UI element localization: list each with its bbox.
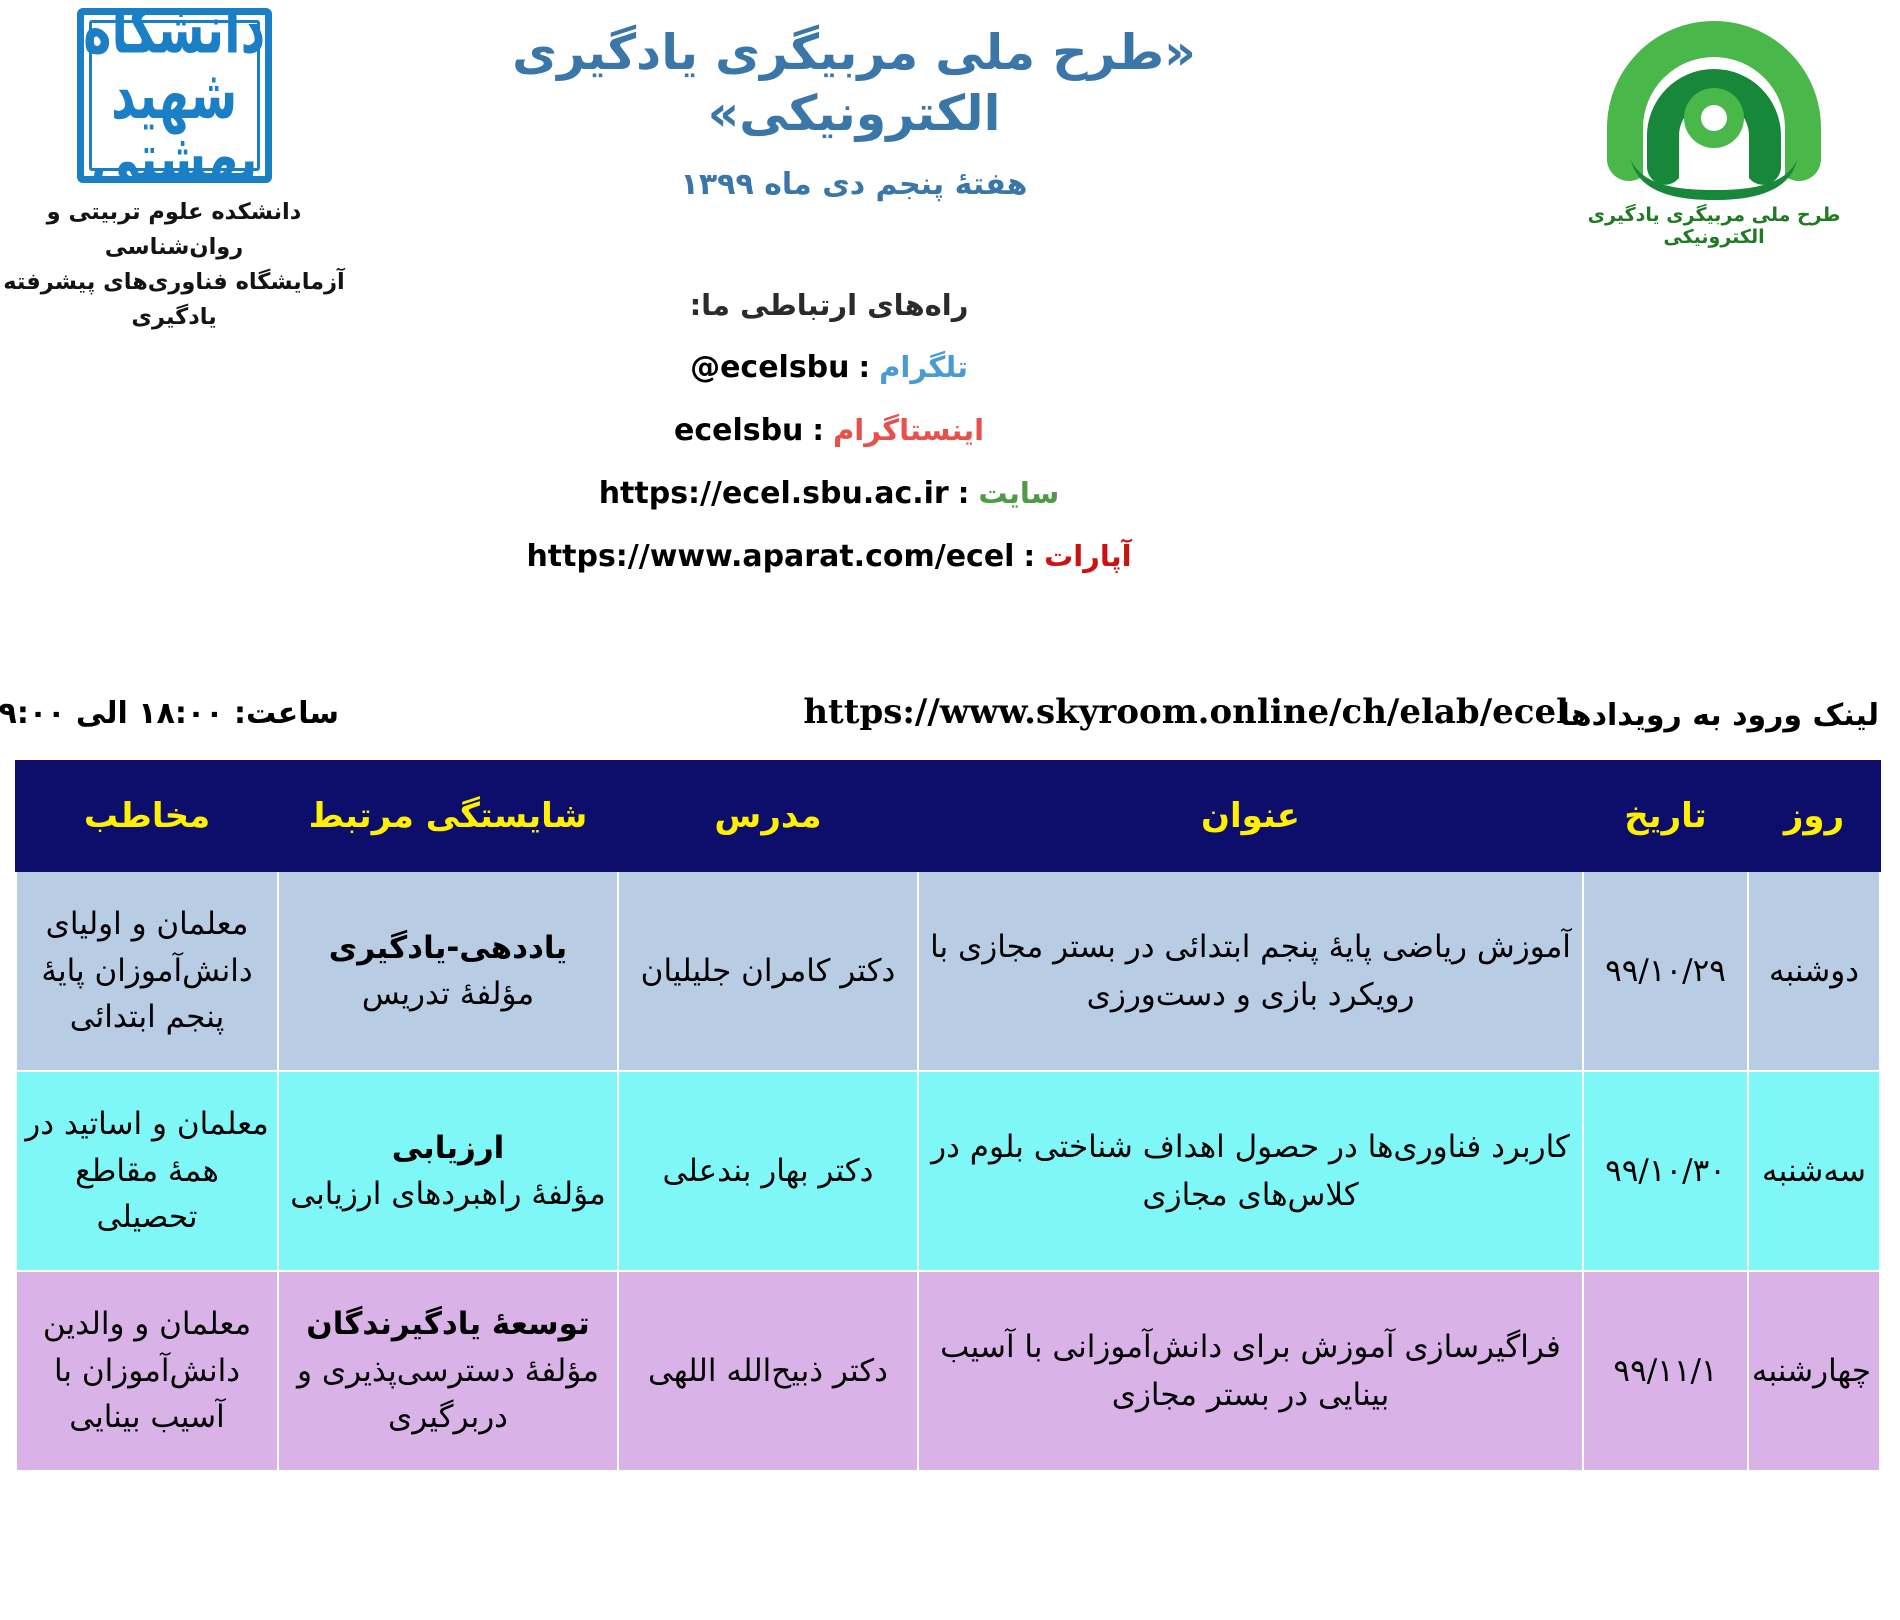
competency-title: یاددهی-یادگیری xyxy=(288,925,610,972)
schedule-table-body: دوشنبه ۹۹/۱۰/۲۹ آموزش ریاضی پایهٔ پنجم ا… xyxy=(17,871,1881,1471)
event-link-bar: لینک ورود به رویدادها https://www.skyroo… xyxy=(0,690,1900,752)
table-row: دوشنبه ۹۹/۱۰/۲۹ آموزش ریاضی پایهٔ پنجم ا… xyxy=(17,871,1881,1071)
program-logo-caption: طرح ملی مربیگری یادگیری الکترونیکی xyxy=(1550,204,1880,248)
event-link-label: لینک ورود به رویدادها xyxy=(1561,698,1880,733)
ecel-logo-icon xyxy=(1590,10,1840,200)
contact-label-telegram: تلگرام xyxy=(880,350,969,384)
contact-label-aparat: آپارات xyxy=(1045,539,1133,573)
faculty-line-1: دانشکده علوم تربیتی و روان‌شناسی xyxy=(0,195,350,265)
university-block: دانشگاهشهیدبهشتی دانشکده علوم تربیتی و ر… xyxy=(0,8,350,335)
contact-row-telegram: تلگرام : @ecelsbu xyxy=(0,350,1900,385)
column-header-competency: شایستگی مرتبط xyxy=(279,761,619,871)
contact-row-site: سایت : https://ecel.sbu.ac.ir xyxy=(0,476,1900,511)
cell-instructor: دکتر ذبیح‌الله اللهی xyxy=(619,1271,919,1471)
schedule-table-head: روز تاریخ عنوان مدرس شایستگی مرتبط مخاطب xyxy=(17,761,1881,871)
event-time-label: ساعت: ۱۸:۰۰ الی ۱۹:۰۰ xyxy=(0,696,340,731)
header-band: دانشگاهشهیدبهشتی دانشکده علوم تربیتی و ر… xyxy=(0,0,1900,300)
competency-title: توسعهٔ یادگیرندگان xyxy=(288,1301,610,1348)
ecel-logo-svg xyxy=(1590,10,1840,200)
cell-instructor: دکتر کامران جلیلیان xyxy=(619,871,919,1071)
column-header-title: عنوان xyxy=(919,761,1584,871)
contact-label-instagram: اینستاگرام xyxy=(834,413,985,447)
sbu-logo-icon: دانشگاهشهیدبهشتی xyxy=(78,8,273,183)
contact-heading: راه‌های ارتباطی ما: xyxy=(0,288,1900,322)
page-subtitle: هفتهٔ پنجم دی ماه ۱۳۹۹ xyxy=(380,167,1330,202)
table-row: سه‌شنبه ۹۹/۱۰/۳۰ کاربرد فناوری‌ها در حصو… xyxy=(17,1071,1881,1271)
program-logo-block: طرح ملی مربیگری یادگیری الکترونیکی xyxy=(1550,10,1880,248)
contact-row-instagram: اینستاگرام : ecelsbu xyxy=(0,413,1900,448)
cell-date: ۹۹/۱۰/۲۹ xyxy=(1584,871,1749,1071)
cell-instructor: دکتر بهار بندعلی xyxy=(619,1071,919,1271)
competency-subtitle: مؤلفهٔ دسترسی‌پذیری و دربرگیری xyxy=(288,1348,610,1441)
contact-sep-site: : xyxy=(959,476,971,510)
contact-value-telegram[interactable]: @ecelsbu xyxy=(691,350,850,385)
column-header-audience: مخاطب xyxy=(17,761,279,871)
cell-title: آموزش ریاضی پایهٔ پنجم ابتدائی در بستر م… xyxy=(919,871,1584,1071)
poster-root: دانشگاهشهیدبهشتی دانشکده علوم تربیتی و ر… xyxy=(0,0,1900,1620)
cell-competency: توسعهٔ یادگیرندگان مؤلفهٔ دسترسی‌پذیری و… xyxy=(279,1271,619,1471)
contact-sep-aparat: : xyxy=(1024,539,1036,573)
contact-label-site: سایت xyxy=(979,476,1060,510)
cell-competency: یاددهی-یادگیری مؤلفهٔ تدریس xyxy=(279,871,619,1071)
contact-sep-telegram: : xyxy=(860,350,872,384)
contact-value-instagram[interactable]: ecelsbu xyxy=(675,413,804,448)
contact-sep-instagram: : xyxy=(813,413,825,447)
schedule-table-wrap: روز تاریخ عنوان مدرس شایستگی مرتبط مخاطب… xyxy=(18,760,1882,1472)
cell-day: چهارشنبه xyxy=(1749,1271,1881,1471)
event-link-url[interactable]: https://www.skyroom.online/ch/elab/ecel xyxy=(804,692,1570,732)
column-header-date: تاریخ xyxy=(1584,761,1749,871)
table-header-row: روز تاریخ عنوان مدرس شایستگی مرتبط مخاطب xyxy=(17,761,1881,871)
cell-audience: معلمان و اساتید در همهٔ مقاطع تحصیلی xyxy=(17,1071,279,1271)
column-header-day: روز xyxy=(1749,761,1881,871)
cell-day: سه‌شنبه xyxy=(1749,1071,1881,1271)
table-row: چهارشنبه ۹۹/۱۱/۱ فراگیرسازی آموزش برای د… xyxy=(17,1271,1881,1471)
contact-block: راه‌های ارتباطی ما: تلگرام : @ecelsbu ای… xyxy=(0,288,1900,574)
page-title: «طرح ملی مربیگری یادگیری الکترونیکی» xyxy=(380,22,1330,145)
cell-audience: معلمان و والدین دانش‌آموزان با آسیب بینا… xyxy=(17,1271,279,1471)
logo-script-text: دانشگاهشهیدبهشتی xyxy=(84,8,266,183)
contact-row-aparat: آپارات : https://www.aparat.com/ecel xyxy=(0,539,1900,574)
competency-subtitle: مؤلفهٔ راهبردهای ارزیابی xyxy=(288,1171,610,1218)
cell-day: دوشنبه xyxy=(1749,871,1881,1071)
cell-competency: ارزیابی مؤلفهٔ راهبردهای ارزیابی xyxy=(279,1071,619,1271)
contact-value-aparat[interactable]: https://www.aparat.com/ecel xyxy=(527,539,1015,574)
schedule-table: روز تاریخ عنوان مدرس شایستگی مرتبط مخاطب… xyxy=(16,760,1882,1472)
cell-title: کاربرد فناوری‌ها در حصول اهداف شناختی بل… xyxy=(919,1071,1584,1271)
competency-subtitle: مؤلفهٔ تدریس xyxy=(288,971,610,1018)
cell-date: ۹۹/۱۰/۳۰ xyxy=(1584,1071,1749,1271)
competency-title: ارزیابی xyxy=(288,1125,610,1172)
cell-date: ۹۹/۱۱/۱ xyxy=(1584,1271,1749,1471)
cell-audience: معلمان و اولیای دانش‌آموزان پایهٔ پنجم ا… xyxy=(17,871,279,1071)
column-header-instructor: مدرس xyxy=(619,761,919,871)
cell-title: فراگیرسازی آموزش برای دانش‌آموزانی با آس… xyxy=(919,1271,1584,1471)
contact-value-site[interactable]: https://ecel.sbu.ac.ir xyxy=(600,476,950,511)
title-block: «طرح ملی مربیگری یادگیری الکترونیکی» هفت… xyxy=(380,22,1330,202)
